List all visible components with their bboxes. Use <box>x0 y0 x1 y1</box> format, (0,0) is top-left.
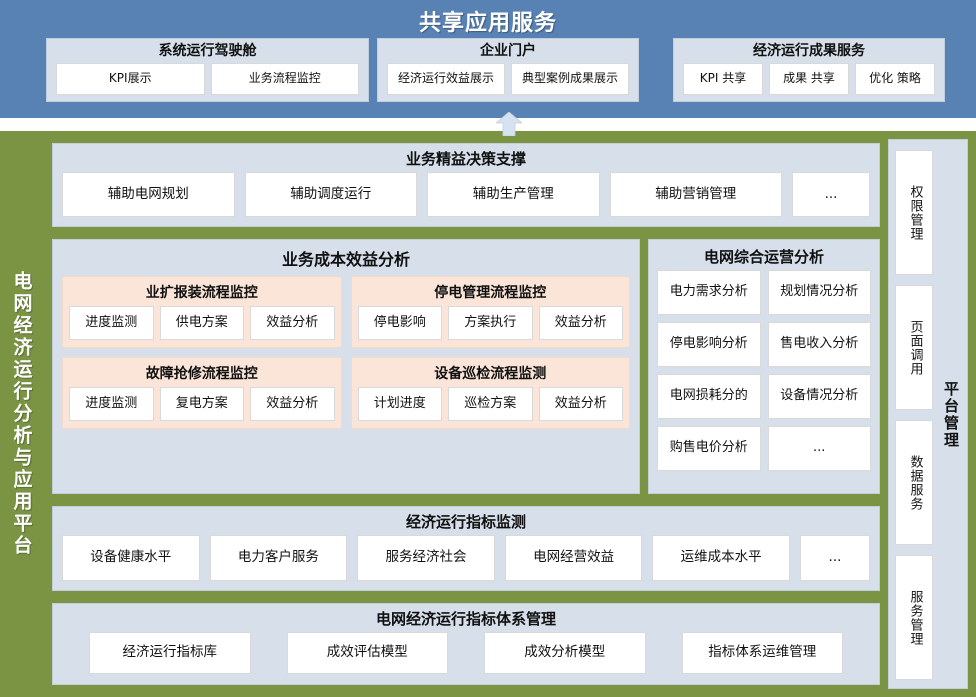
leaf-kpi-share[interactable]: KPI 共享 <box>683 63 763 95</box>
leaf-result-share[interactable]: 成果 共享 <box>769 63 849 95</box>
leaf-more[interactable]: ... <box>792 172 870 217</box>
leaf-outage-impact[interactable]: 停电影响 <box>358 306 443 340</box>
panel-indicator-system-management: 电网经济运行指标体系管理 经济运行指标库 成效评估模型 成效分析模型 指标体系运… <box>52 603 880 685</box>
leaf-plan-execution[interactable]: 方案执行 <box>448 306 533 340</box>
platform-management-label-wrap: 平台管理 <box>941 140 962 690</box>
sub-card-items: 停电影响 方案执行 效益分析 <box>352 306 630 340</box>
leaf-benefit-analysis[interactable]: 效益分析 <box>539 306 624 340</box>
sub-card-items: 计划进度 巡检方案 效益分析 <box>352 387 630 421</box>
leaf-planning-status-analysis[interactable]: 规划情况分析 <box>768 270 872 315</box>
leaf-power-restoration-plan[interactable]: 复电方案 <box>160 387 245 421</box>
leaf-equipment-status-analysis[interactable]: 设备情况分析 <box>768 374 872 419</box>
leaf-grid-planning-support[interactable]: 辅助电网规划 <box>62 172 235 217</box>
leaf-power-supply-plan[interactable]: 供电方案 <box>160 306 245 340</box>
card-items: KPI 共享 成果 共享 优化 策略 <box>674 63 944 101</box>
leaf-power-demand-analysis[interactable]: 电力需求分析 <box>657 270 761 315</box>
panel-title: 电网综合运营分析 <box>649 240 879 270</box>
platform-name-label: 电网经济运行分析与应用平台 <box>9 271 36 557</box>
leaf-om-cost-level[interactable]: 运维成本水平 <box>652 535 790 581</box>
leaf-inspection-plan[interactable]: 巡检方案 <box>448 387 533 421</box>
leaf-progress-monitor[interactable]: 进度监测 <box>69 306 154 340</box>
sub-card-grid: 业扩报装流程监控 进度监测 供电方案 效益分析 停电管理流程监控 停电影响 方案… <box>53 273 639 438</box>
panel-items: 经济运行指标库 成效评估模型 成效分析模型 指标体系运维管理 <box>53 632 879 682</box>
leaf-effect-evaluation-model[interactable]: 成效评估模型 <box>287 632 449 674</box>
leaf-production-management-support[interactable]: 辅助生产管理 <box>427 172 600 217</box>
leaf-kpi-display[interactable]: KPI展示 <box>56 63 205 95</box>
leaf-marketing-management-support[interactable]: 辅助营销管理 <box>610 172 783 217</box>
platform-name-rail: 电网经济运行分析与应用平台 <box>0 131 44 697</box>
leaf-plan-progress[interactable]: 计划进度 <box>358 387 443 421</box>
card-title: 经济运行成果服务 <box>674 39 944 63</box>
sub-card-items: 进度监测 复电方案 效益分析 <box>63 387 341 421</box>
sub-card-title: 故障抢修流程监控 <box>63 358 341 387</box>
panel-title: 经济运行指标监测 <box>53 507 879 535</box>
leaf-effect-analysis-model[interactable]: 成效分析模型 <box>484 632 646 674</box>
card-title: 企业门户 <box>378 39 638 63</box>
leaf-indicator-system-om-management[interactable]: 指标体系运维管理 <box>682 632 844 674</box>
sub-card-fault-repair-monitor[interactable]: 故障抢修流程监控 进度监测 复电方案 效益分析 <box>62 357 342 429</box>
sub-card-items: 进度监测 供电方案 效益分析 <box>63 306 341 340</box>
sub-card-expansion-process-monitor[interactable]: 业扩报装流程监控 进度监测 供电方案 效益分析 <box>62 276 342 348</box>
panel-items: 设备健康水平 电力客户服务 服务经济社会 电网经营效益 运维成本水平 ... <box>53 535 879 589</box>
leaf-power-customer-service[interactable]: 电力客户服务 <box>210 535 348 581</box>
sub-card-outage-management-monitor[interactable]: 停电管理流程监控 停电影响 方案执行 效益分析 <box>351 276 631 348</box>
panel-platform-management: 权限管理 页面调用 数据服务 服务管理 平台管理 <box>888 139 968 689</box>
leaf-benefit-analysis[interactable]: 效益分析 <box>250 306 335 340</box>
panel-items: 电力需求分析 规划情况分析 停电影响分析 售电收入分析 电网损耗分的 设备情况分… <box>649 270 879 479</box>
card-system-cockpit[interactable]: 系统运行驾驶舱 KPI展示 业务流程监控 <box>46 38 369 102</box>
leaf-economic-indicator-library[interactable]: 经济运行指标库 <box>89 632 251 674</box>
panel-items: 辅助电网规划 辅助调度运行 辅助生产管理 辅助营销管理 ... <box>53 172 879 225</box>
sub-card-equipment-inspection-monitor[interactable]: 设备巡检流程监测 计划进度 巡检方案 效益分析 <box>351 357 631 429</box>
sub-card-title: 业扩报装流程监控 <box>63 277 341 306</box>
leaf-electricity-sales-revenue-analysis[interactable]: 售电收入分析 <box>768 322 872 367</box>
leaf-benefit-analysis[interactable]: 效益分析 <box>250 387 335 421</box>
leaf-business-process-monitor[interactable]: 业务流程监控 <box>211 63 360 95</box>
leaf-benefit-analysis[interactable]: 效益分析 <box>539 387 624 421</box>
leaf-page-invocation[interactable]: 页面调用 <box>895 285 933 410</box>
panel-grid-operation-analysis: 电网综合运营分析 电力需求分析 规划情况分析 停电影响分析 售电收入分析 电网损… <box>648 239 880 494</box>
leaf-progress-monitor[interactable]: 进度监测 <box>69 387 154 421</box>
panel-decision-support: 业务精益决策支撑 辅助电网规划 辅助调度运行 辅助生产管理 辅助营销管理 ... <box>52 143 880 227</box>
panel-title: 电网经济运行指标体系管理 <box>53 604 879 632</box>
card-items: 经济运行效益展示 典型案例成果展示 <box>378 63 638 101</box>
page-title: 共享应用服务 <box>0 5 976 37</box>
panel-title: 业务成本效益分析 <box>53 240 639 273</box>
architecture-diagram: 共享应用服务 系统运行驾驶舱 KPI展示 业务流程监控 企业门户 经济运行效益展… <box>0 0 976 697</box>
leaf-service-economy-society[interactable]: 服务经济社会 <box>357 535 495 581</box>
platform-management-label: 平台管理 <box>941 381 962 449</box>
panel-cost-benefit-analysis: 业务成本效益分析 业扩报装流程监控 进度监测 供电方案 效益分析 停电管理流程监… <box>52 239 640 494</box>
platform-frame: 电网经济运行分析与应用平台 业务精益决策支撑 辅助电网规划 辅助调度运行 辅助生… <box>0 131 976 697</box>
leaf-data-service[interactable]: 数据服务 <box>895 420 933 545</box>
leaf-optimization-strategy[interactable]: 优化 策略 <box>855 63 935 95</box>
leaf-purchase-sale-price-analysis[interactable]: 购售电价分析 <box>657 426 761 471</box>
leaf-grid-loss-analysis[interactable]: 电网损耗分的 <box>657 374 761 419</box>
sub-card-title: 设备巡检流程监测 <box>352 358 630 387</box>
leaf-more[interactable]: ... <box>768 426 872 471</box>
card-title: 系统运行驾驶舱 <box>47 39 368 63</box>
leaf-more[interactable]: ... <box>800 535 870 581</box>
leaf-typical-case-display[interactable]: 典型案例成果展示 <box>511 63 629 95</box>
panel-title: 业务精益决策支撑 <box>53 144 879 172</box>
up-arrow-icon <box>496 112 522 136</box>
panel-indicator-monitoring: 经济运行指标监测 设备健康水平 电力客户服务 服务经济社会 电网经营效益 运维成… <box>52 506 880 591</box>
leaf-grid-operation-benefit[interactable]: 电网经营效益 <box>505 535 643 581</box>
sub-card-title: 停电管理流程监控 <box>352 277 630 306</box>
card-enterprise-portal[interactable]: 企业门户 经济运行效益展示 典型案例成果展示 <box>377 38 639 102</box>
leaf-service-management[interactable]: 服务管理 <box>895 555 933 680</box>
leaf-equipment-health-level[interactable]: 设备健康水平 <box>62 535 200 581</box>
leaf-dispatch-operation-support[interactable]: 辅助调度运行 <box>245 172 418 217</box>
leaf-economic-benefit-display[interactable]: 经济运行效益展示 <box>387 63 505 95</box>
leaf-permission-management[interactable]: 权限管理 <box>895 150 933 275</box>
platform-management-items: 权限管理 页面调用 数据服务 服务管理 <box>895 150 933 680</box>
leaf-outage-impact-analysis[interactable]: 停电影响分析 <box>657 322 761 367</box>
card-items: KPI展示 业务流程监控 <box>47 63 368 101</box>
card-economic-result-service[interactable]: 经济运行成果服务 KPI 共享 成果 共享 优化 策略 <box>673 38 945 102</box>
